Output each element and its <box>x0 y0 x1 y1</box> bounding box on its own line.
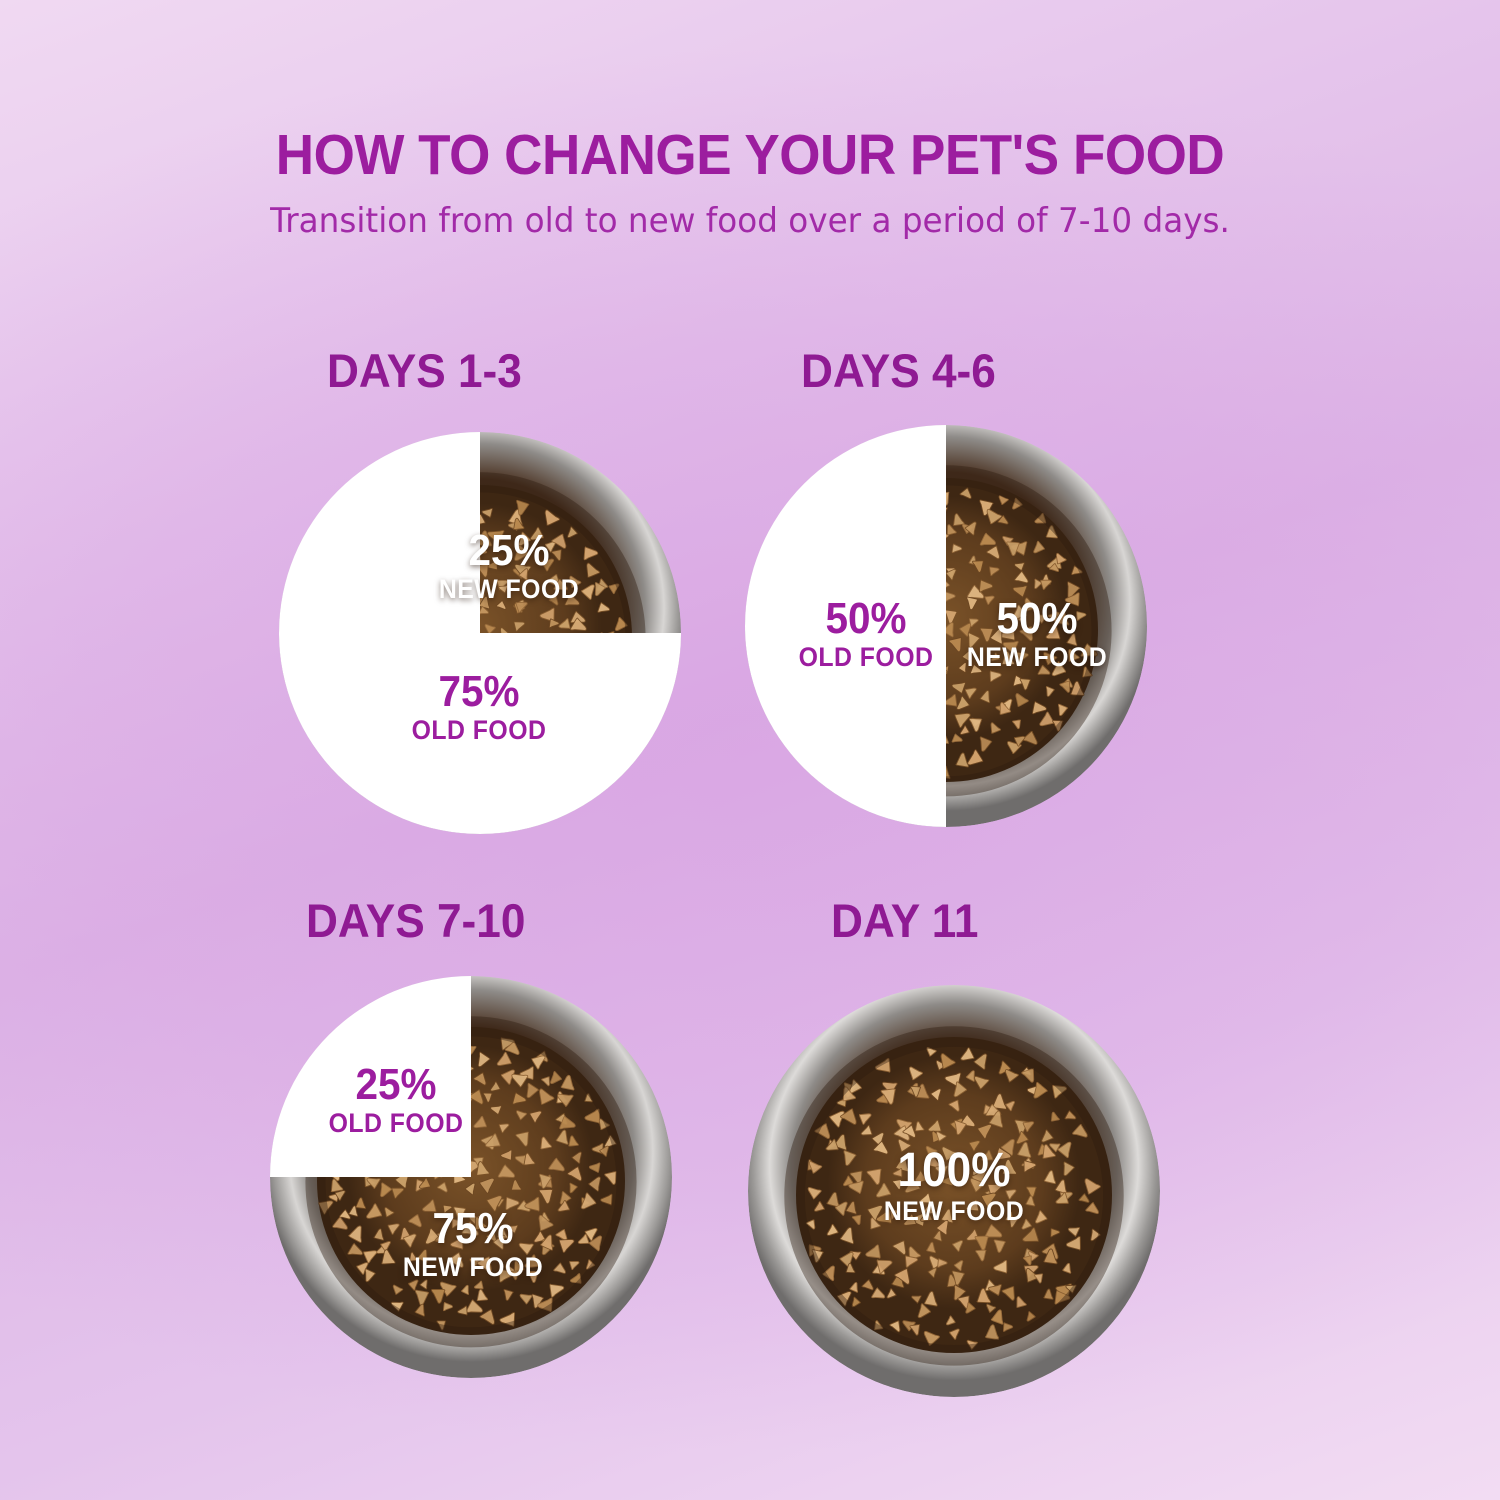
new-food-caption: NEW FOOD <box>408 574 610 604</box>
pie-chart-days-7-10 <box>270 976 672 1378</box>
old-food-percent: 75% <box>378 669 580 715</box>
new-food-label: 100% NEW FOOD <box>844 1146 1064 1226</box>
pie-chart-days-1-3 <box>279 432 681 834</box>
old-food-caption: OLD FOOD <box>295 1108 497 1138</box>
new-food-percent: 25% <box>408 528 610 574</box>
panel-heading: DAY 11 <box>831 896 978 946</box>
new-food-caption: NEW FOOD <box>936 642 1138 672</box>
old-food-slice <box>279 432 480 834</box>
new-food-label: 25% NEW FOOD <box>399 528 619 604</box>
new-food-percent: 100% <box>853 1146 1055 1196</box>
old-food-caption: OLD FOOD <box>378 715 580 745</box>
panel-heading: DAYS 1-3 <box>327 346 522 396</box>
old-food-label: 25% OLD FOOD <box>286 1062 506 1138</box>
new-food-percent: 75% <box>372 1206 574 1252</box>
old-food-label: 75% OLD FOOD <box>369 669 589 745</box>
panel-heading: DAYS 7-10 <box>306 896 525 946</box>
infographic-canvas: HOW TO CHANGE YOUR PET'S FOOD Transition… <box>0 0 1500 1500</box>
new-food-caption: NEW FOOD <box>372 1252 574 1282</box>
new-food-percent: 50% <box>936 596 1138 642</box>
new-food-label: 75% NEW FOOD <box>363 1206 583 1282</box>
page-subtitle: Transition from old to new food over a p… <box>30 200 1470 242</box>
old-food-percent: 25% <box>295 1062 497 1108</box>
panel-heading: DAYS 4-6 <box>801 346 996 396</box>
new-food-caption: NEW FOOD <box>853 1196 1055 1226</box>
page-title: HOW TO CHANGE YOUR PET'S FOOD <box>53 124 1448 186</box>
new-food-label: 50% NEW FOOD <box>927 596 1147 672</box>
